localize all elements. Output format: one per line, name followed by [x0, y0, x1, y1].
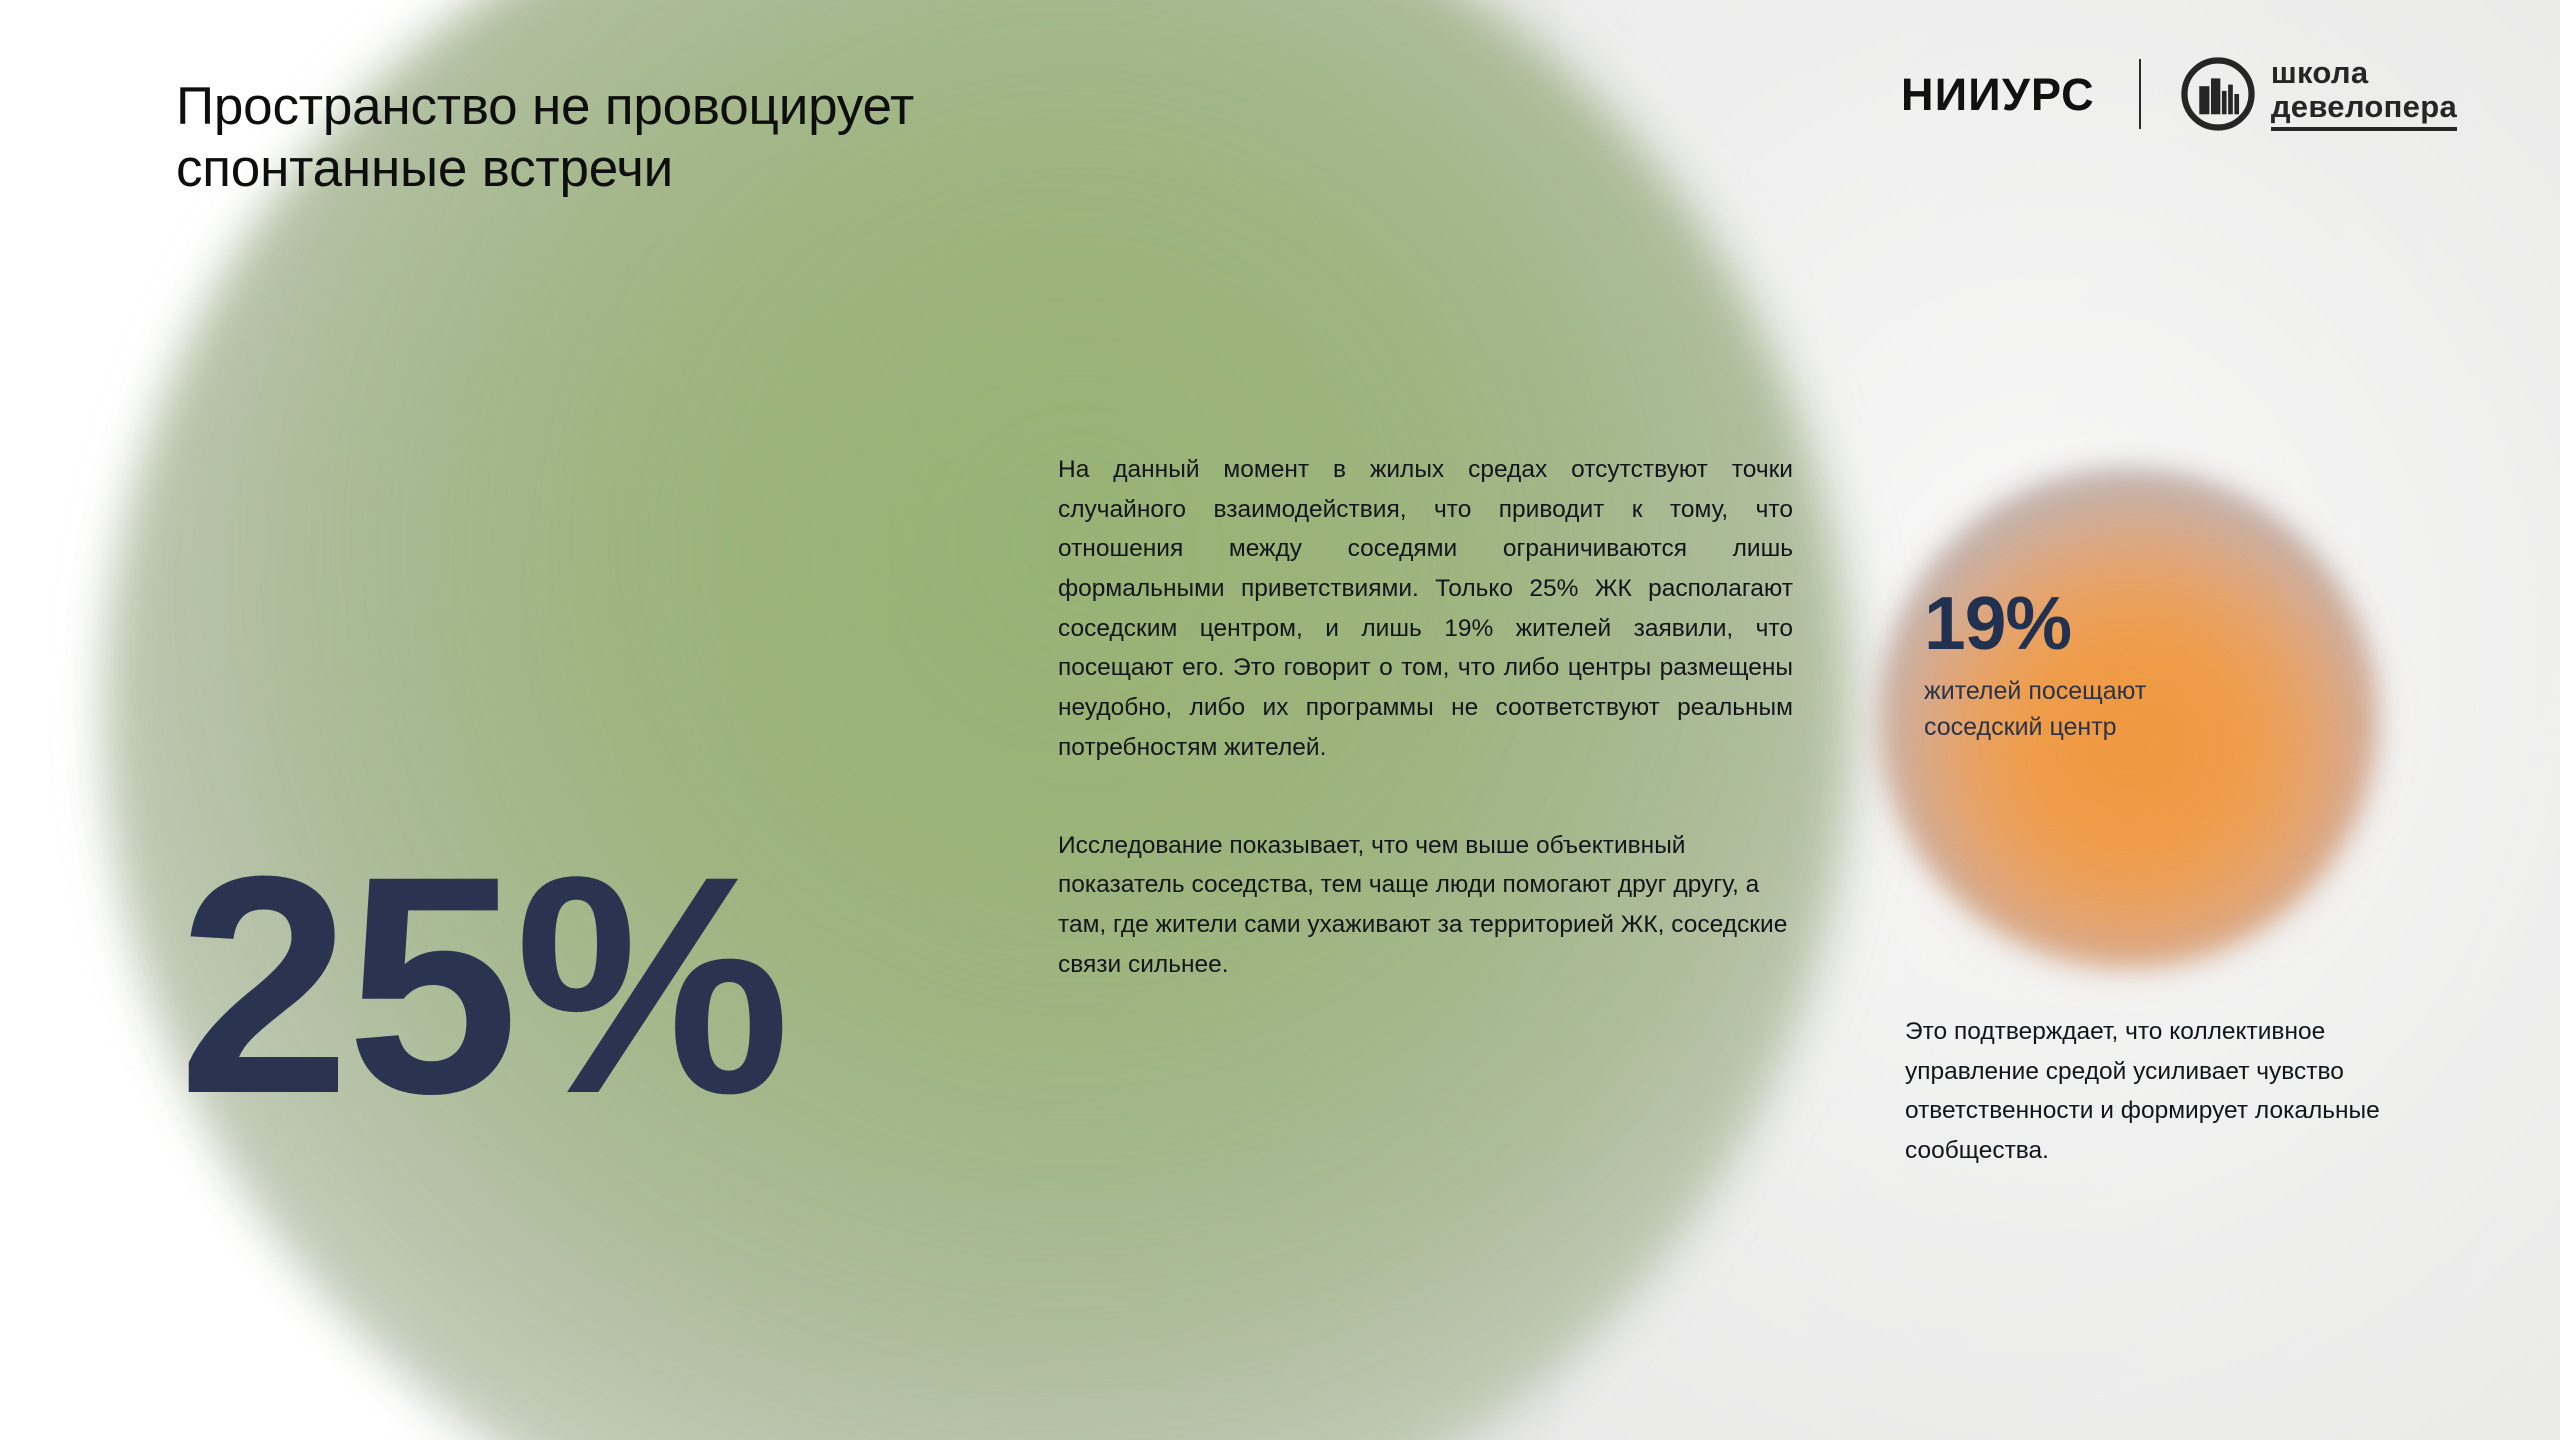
brand-school-lockup: школа девелопера	[2179, 55, 2457, 133]
right-paragraph: Это подтверждает, что коллективное управ…	[1905, 1012, 2385, 1171]
brand-lockup: НИИУРС школа девелопера	[1901, 52, 2457, 136]
brand-institute-label: НИИУРС	[1901, 72, 2095, 117]
right-copy-column: Это подтверждает, что коллективное управ…	[1905, 1012, 2385, 1171]
brand-school-text: школа девелопера	[2271, 57, 2457, 131]
circular-building-logo-icon	[2179, 55, 2257, 133]
body-paragraph-2: Исследование показывает, что чем выше об…	[1058, 826, 1793, 985]
brand-divider	[2139, 59, 2141, 129]
body-copy-column: На данный момент в жилых средах отсутств…	[1058, 450, 1793, 984]
page-title: Пространство не провоцирует спонтанные в…	[176, 76, 1376, 201]
body-paragraph-1: На данный момент в жилых средах отсутств…	[1058, 450, 1793, 768]
stat-circle-content: 19% жителей посещают соседский центр	[1924, 586, 2354, 745]
slide-root: Пространство не провоцирует спонтанные в…	[0, 0, 2560, 1440]
brand-school-line-1: школа	[2271, 57, 2457, 88]
stat-circle-value: 19%	[1924, 586, 2354, 661]
big-stat-25-percent: 25%	[178, 830, 786, 1140]
stat-circle-label: жителей посещают соседский центр	[1924, 674, 2354, 745]
brand-school-line-2: девелопера	[2271, 91, 2457, 131]
